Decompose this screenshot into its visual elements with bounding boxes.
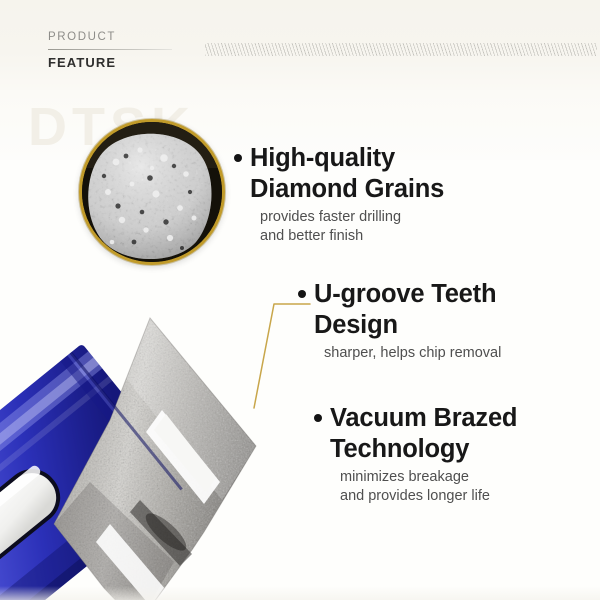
leader-line-u-groove [224,282,324,410]
feature-heading-line1: Vacuum Brazed [330,403,580,434]
feature-heading-line2: Diamond Grains [250,174,530,205]
feature-heading-line1: U-groove Teeth [314,279,564,310]
header-block: PRODUCT FEATURE [48,30,208,71]
bullet-marker [314,414,322,422]
feature-callout-u-groove: U-groove Teeth Design sharper, helps chi… [314,279,564,363]
feature-callout-diamond-grains: High-quality Diamond Grains provides fas… [250,143,530,245]
background-bottom-tint [0,586,600,600]
header-divider [48,49,172,50]
feature-sub-line2: and provides longer life [340,487,580,506]
feature-sub-line1: sharper, helps chip removal [324,344,564,363]
feature-heading-line2: Design [314,310,564,341]
bullet-marker [298,290,306,298]
feature-sub-line1: provides faster drilling [260,208,530,227]
diagonal-hatch-icon [205,43,597,56]
feature-heading-line2: Technology [330,434,580,465]
bullet-marker [234,154,242,162]
header-kicker: PRODUCT [48,30,208,44]
feature-sub-line2: and better finish [260,227,530,246]
magnifier-diamond-grains [79,119,225,265]
page-title: FEATURE [48,55,208,71]
feature-callout-vacuum-brazed: Vacuum Brazed Technology minimizes break… [330,403,580,505]
infographic-canvas: DTSK PRODUCT FEATURE [0,0,600,600]
feature-sub-line1: minimizes breakage [340,468,580,487]
feature-heading-line1: High-quality [250,143,530,174]
